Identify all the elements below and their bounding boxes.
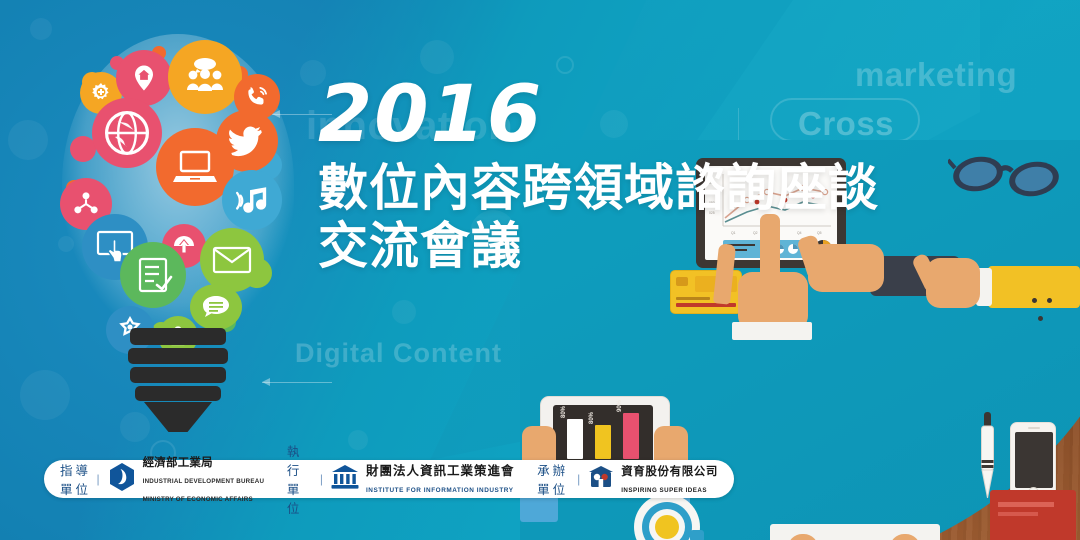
- sponsor-separator: |: [320, 472, 323, 486]
- ballpoint-pen: [981, 412, 994, 498]
- bar-3: [623, 413, 639, 459]
- event-title-line-2: 交流會議: [318, 217, 998, 275]
- phone-speaker: [1028, 427, 1040, 429]
- event-title-line-1: 數位內容跨領域諮詢座談: [318, 159, 998, 217]
- sponsor-role-label: 執行單位: [287, 441, 315, 517]
- sponsor-name-en-1: INSPIRING SUPER IDEAS: [621, 487, 707, 494]
- sponsor-role-label: 承辦單位: [537, 460, 572, 498]
- isi-logo-icon: [587, 464, 615, 495]
- sponsor-name-en-2: MINISTRY OF ECONOMIC AFFAIRS: [143, 496, 253, 503]
- watermark-digital-content: Digital Content: [295, 338, 502, 369]
- sponsor-name-cn: 財團法人資訊工業策進會: [366, 463, 515, 478]
- people-group-icon: [168, 40, 242, 114]
- checklist-icon: [120, 242, 186, 308]
- lightbulb-illustration: [44, 28, 314, 428]
- idb-logo-icon: [107, 462, 137, 497]
- event-year: 2016: [318, 78, 998, 153]
- bar-1: [567, 419, 583, 459]
- bulb-screw-base: [126, 328, 230, 428]
- sponsor-separator: |: [577, 472, 580, 486]
- sponsor-guidance-unit: 指導單位 | 經濟部工業局 INDUSTRIAL DEVELOPMENT BUR…: [60, 453, 264, 505]
- sponsor-name-cn: 經濟部工業局: [143, 455, 213, 469]
- bar-label-3: 90%: [617, 400, 623, 412]
- event-banner: innovation Digital Content marketing Cro…: [0, 0, 1080, 540]
- globe-icon: [92, 98, 162, 168]
- bar-label-1: 80%: [561, 406, 567, 418]
- sponsor-names: 經濟部工業局 INDUSTRIAL DEVELOPMENT BUREAU MIN…: [143, 453, 265, 505]
- sponsor-bar: 指導單位 | 經濟部工業局 INDUSTRIAL DEVELOPMENT BUR…: [44, 460, 734, 498]
- chat-bubble-icon: [190, 284, 242, 330]
- headline-block: 2016 數位內容跨領域諮詢座談 交流會議: [318, 78, 998, 275]
- music-note-icon: [222, 170, 282, 230]
- sponsor-name-en-1: INDUSTRIAL DEVELOPMENT BUREAU: [143, 478, 265, 485]
- sponsor-executing-unit: 執行單位 | 財團法人資訊工業策進會 INSTITUTE FOR INFORMA…: [287, 441, 515, 517]
- sponsor-names: 資育股份有限公司 INSPIRING SUPER IDEAS: [621, 462, 718, 497]
- sponsor-role-label: 指導單位: [60, 460, 91, 498]
- sponsor-names: 財團法人資訊工業策進會 INSTITUTE FOR INFORMATION IN…: [366, 462, 515, 497]
- iii-institute-logo-icon: [330, 464, 360, 495]
- sponsor-name-cn: 資育股份有限公司: [621, 464, 718, 478]
- phone-screen: [1015, 432, 1053, 488]
- red-book: [990, 490, 1076, 540]
- bar-label-2: 80%: [589, 412, 595, 424]
- sponsor-separator: |: [96, 472, 99, 486]
- bar-2: [595, 425, 611, 459]
- sponsor-organizing-unit: 承辦單位 | 資育股份有限公司 INSPIRING SUPER IDEAS: [537, 460, 718, 498]
- sponsor-name-en-1: INSTITUTE FOR INFORMATION INDUSTRY: [366, 487, 514, 494]
- envelope-icon: [200, 228, 264, 292]
